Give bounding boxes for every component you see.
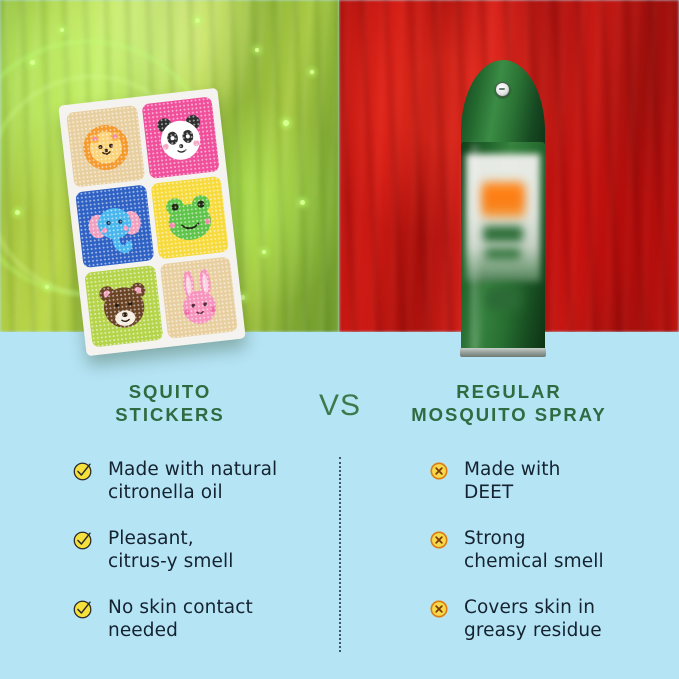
bullet-line: Pleasant, — [108, 527, 233, 550]
list-item-text: Made with DEET — [464, 458, 560, 504]
right-title-line-1: REGULAR — [374, 380, 644, 403]
bullet-line: citrus-y smell — [108, 550, 233, 573]
right-column-title: REGULAR MOSQUITO SPRAY — [374, 380, 644, 426]
bullet-line: citronella oil — [108, 481, 277, 504]
x-circle-icon — [428, 460, 450, 482]
photo-band — [0, 0, 679, 332]
sticker-sheet — [58, 88, 245, 356]
list-item: Strong chemical smell — [428, 527, 668, 573]
bullet-line: Made with natural — [108, 458, 277, 481]
list-item-text: Made with natural citronella oil — [108, 458, 277, 504]
can-label-text-block — [483, 226, 523, 242]
comparison-section: SQUITO STICKERS VS REGULAR MOSQUITO SPRA… — [0, 332, 679, 679]
sparkle-icon — [262, 250, 266, 254]
bullet-line: Covers skin in — [464, 596, 602, 619]
can-label-orange-block — [481, 182, 525, 218]
bullet-line: DEET — [464, 481, 560, 504]
bullet-line: Strong — [464, 527, 604, 550]
x-circle-icon — [428, 529, 450, 551]
left-title-line-1: SQUITO — [36, 380, 304, 403]
sparkle-icon — [195, 18, 200, 23]
sparkle-icon — [45, 285, 49, 289]
list-item: Made with natural citronella oil — [72, 458, 312, 504]
sparkle-icon — [283, 120, 289, 126]
list-item-text: No skin contact needed — [108, 596, 253, 642]
sticker-rabbit — [159, 256, 238, 339]
list-item-text: Pleasant, citrus-y smell — [108, 527, 233, 573]
comparison-infographic: SQUITO STICKERS VS REGULAR MOSQUITO SPRA… — [0, 0, 679, 679]
vertical-dotted-divider — [339, 457, 341, 652]
spray-can — [455, 60, 551, 360]
check-circle-icon — [72, 529, 94, 551]
sparkle-icon — [30, 60, 35, 65]
list-item-text: Covers skin in greasy residue — [464, 596, 602, 642]
bullet-line: greasy residue — [464, 619, 602, 642]
list-item: Pleasant, citrus-y smell — [72, 527, 312, 573]
list-item-text: Strong chemical smell — [464, 527, 604, 573]
bullet-line: chemical smell — [464, 550, 604, 573]
can-highlight — [471, 144, 483, 350]
check-circle-icon — [72, 598, 94, 620]
can-label-text-block — [486, 288, 520, 310]
sparkle-icon — [60, 28, 64, 32]
sticker-elephant — [75, 185, 154, 268]
bullet-line: No skin contact — [108, 596, 253, 619]
sticker-panda — [141, 96, 220, 179]
sticker-lion — [66, 105, 145, 188]
bullet-line: Made with — [464, 458, 560, 481]
right-title-line-2: MOSQUITO SPRAY — [374, 403, 644, 426]
can-nozzle-button — [495, 82, 510, 97]
can-cap — [461, 60, 545, 152]
sticker-frog — [150, 176, 229, 259]
list-item: Covers skin in greasy residue — [428, 596, 668, 642]
sparkle-icon — [15, 210, 20, 215]
sparkle-icon — [255, 48, 259, 52]
x-circle-icon — [428, 598, 450, 620]
check-circle-icon — [72, 460, 94, 482]
sparkle-icon — [310, 70, 314, 74]
bullet-line: needed — [108, 619, 253, 642]
left-title-line-2: STICKERS — [36, 403, 304, 426]
left-benefit-list: Made with natural citronella oil Pleasan… — [72, 458, 312, 665]
vs-label: VS — [300, 389, 380, 423]
sparkle-icon — [300, 200, 305, 205]
list-item: Made with DEET — [428, 458, 668, 504]
right-drawback-list: Made with DEET Strong chemical smell — [428, 458, 668, 665]
list-item: No skin contact needed — [72, 596, 312, 642]
can-label-text-block — [485, 248, 521, 260]
left-column-title: SQUITO STICKERS — [36, 380, 304, 426]
